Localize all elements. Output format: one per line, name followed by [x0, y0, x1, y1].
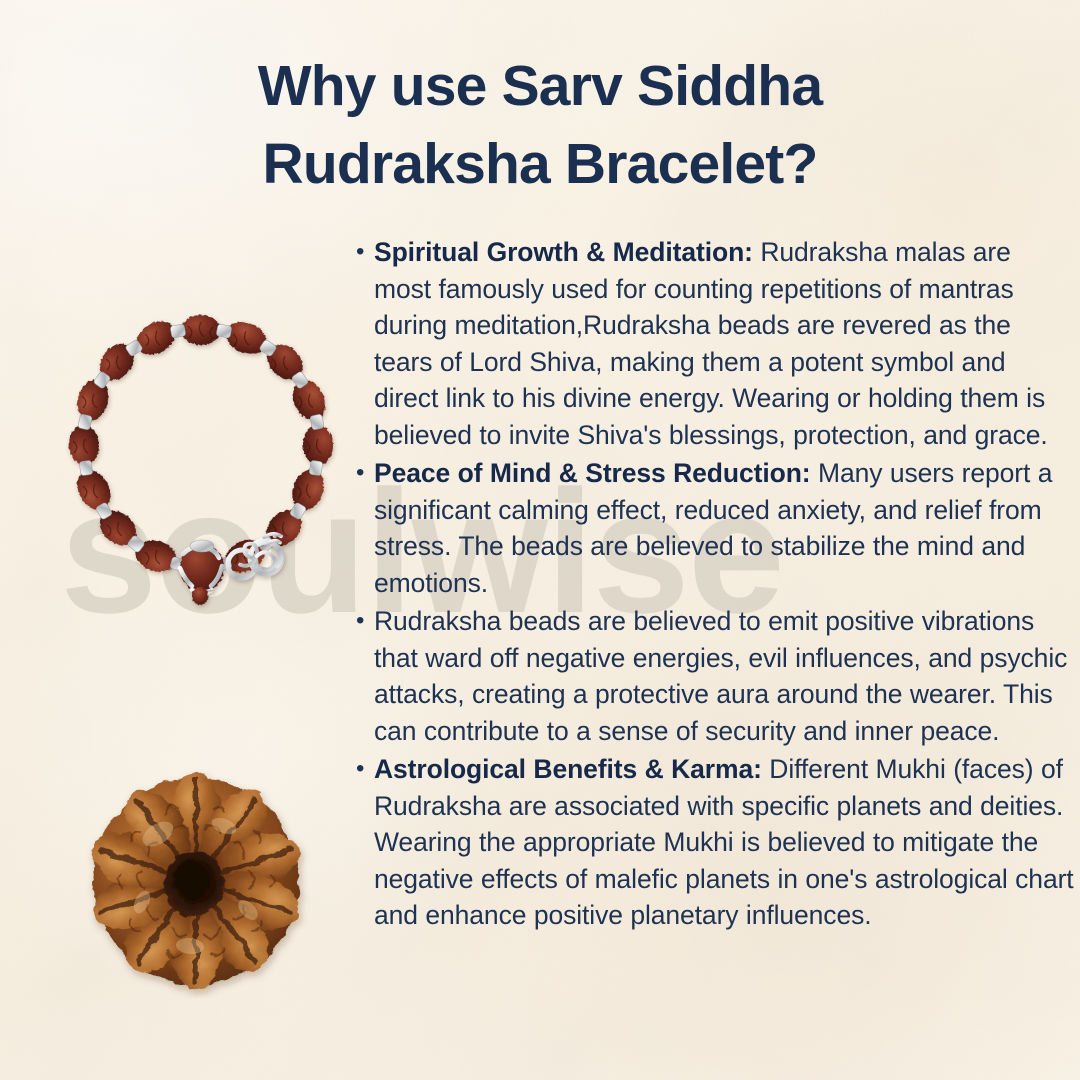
page-title: Why use Sarv Siddha Rudraksha Bracelet? — [0, 48, 1080, 203]
page-title-line-2: Rudraksha Bracelet? — [0, 126, 1080, 204]
list-item-text: Peace of Mind & Stress Reduction: Many u… — [374, 455, 1074, 601]
rudraksha-bracelet-image — [36, 290, 366, 620]
list-item: • Rudraksha beads are believed to emit p… — [352, 603, 1074, 749]
bullet-marker: • — [352, 603, 374, 640]
rudraksha-center-hole — [164, 852, 224, 916]
list-item-text: Spiritual Growth & Meditation: Rudraksha… — [374, 234, 1074, 453]
bullet-marker: • — [352, 455, 374, 492]
bullet-marker: • — [352, 234, 374, 271]
list-item-lead: Spiritual Growth & Meditation: — [374, 237, 753, 267]
list-item: • Astrological Benefits & Karma: Differe… — [352, 751, 1074, 934]
rudraksha-bead-image — [80, 768, 312, 998]
list-item: • Spiritual Growth & Meditation: Rudraks… — [352, 234, 1074, 453]
list-item: • Peace of Mind & Stress Reduction: Many… — [352, 455, 1074, 601]
list-item-lead: Peace of Mind & Stress Reduction: — [374, 458, 811, 488]
list-item-body: Rudraksha beads are believed to emit pos… — [374, 606, 1067, 746]
list-item-text: Rudraksha beads are believed to emit pos… — [374, 603, 1074, 749]
list-item-lead: Astrological Benefits & Karma: — [374, 754, 762, 784]
list-item-text: Astrological Benefits & Karma: Different… — [374, 751, 1074, 934]
infographic-page: soulwise Why use Sarv Siddha Rudraksha B… — [0, 0, 1080, 1080]
page-title-line-1: Why use Sarv Siddha — [0, 48, 1080, 126]
list-item-body: Rudraksha malas are most famously used f… — [374, 237, 1048, 450]
bullet-marker: • — [352, 751, 374, 788]
benefits-list: • Spiritual Growth & Meditation: Rudraks… — [352, 234, 1074, 936]
